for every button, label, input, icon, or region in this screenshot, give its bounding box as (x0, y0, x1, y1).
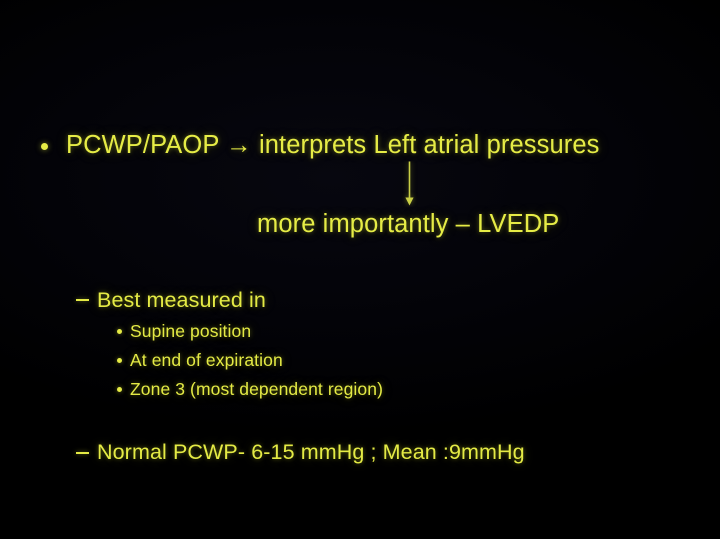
dash-bullet-icon (76, 299, 89, 301)
small-bullet-icon (117, 358, 122, 363)
list-item: At end of expiration (130, 350, 283, 371)
sub-bullet-normal-pcwp-text: Normal PCWP- 6-15 mmHg ; Mean :9mmHg (97, 440, 525, 465)
main-bullet-text: PCWP/PAOP → interprets Left atrial press… (66, 131, 599, 160)
sub-bullet-best-measured-text: Best measured in (97, 288, 266, 313)
disc-bullet-icon (41, 143, 48, 150)
down-arrow-icon (402, 161, 418, 207)
list-item: Zone 3 (most dependent region) (130, 379, 383, 400)
small-bullet-icon (117, 329, 122, 334)
slide-canvas: PCWP/PAOP → interprets Left atrial press… (0, 0, 720, 539)
emphasis-text: more importantly – LVEDP (257, 210, 559, 239)
small-bullet-icon (117, 387, 122, 392)
list-item: Supine position (130, 321, 251, 342)
dash-bullet-icon (76, 452, 89, 454)
